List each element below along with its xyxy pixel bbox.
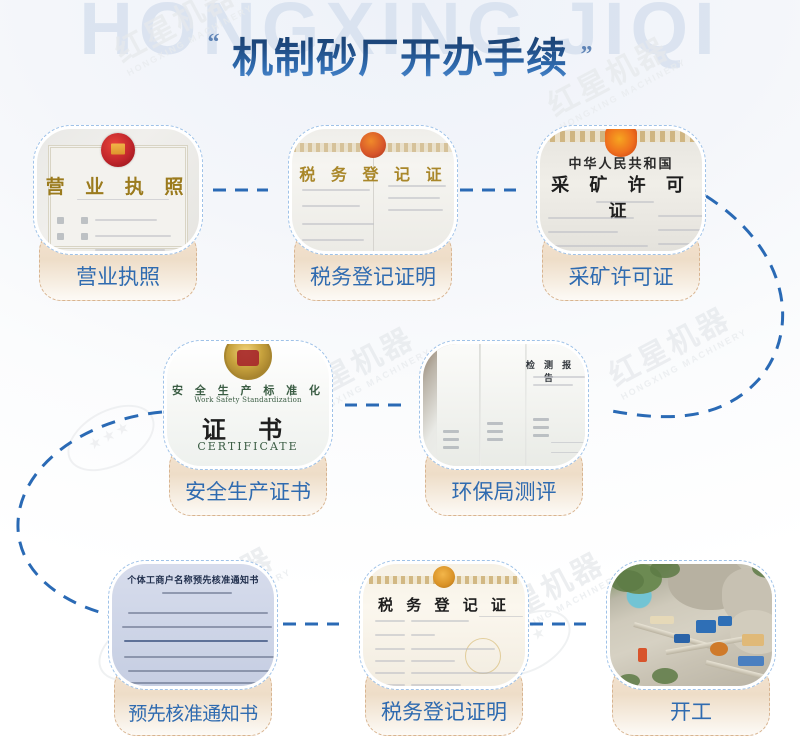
step-image-safety-certificate: 安 全 生 产 标 准 化 Work Safety Standardizatio… [163,340,333,470]
title-quote-left-icon: “ [208,30,220,57]
national-emblem-icon [433,566,455,588]
step-card-8[interactable]: 开工 [606,560,776,736]
step-card-6[interactable]: 个体工商户名称预先核准通知书 预先核准通知书 [108,560,278,736]
document-title: 检 测 报 告 [521,358,579,384]
page-title-text: 机制砂厂开办手续 [232,24,568,84]
document-title: 税 务 登 记 证 [292,161,454,185]
gold-seal-icon [224,344,272,380]
document-title-en: CERTIFICATE [167,440,329,453]
step-card-2[interactable]: 税 务 登 记 证 税务登记证明 [288,125,458,301]
step-image-pre-approval-notice: 个体工商户名称预先核准通知书 [108,560,278,690]
step-label-text: 安全生产证书 [185,476,311,506]
step-card-3[interactable]: 中华人民共和国 采 矿 许 可 证 采矿许可证 [536,125,706,301]
flowchart-page: HONGXING JIQI 红星机器 HONGXING MACHINERY 红星… [0,0,800,749]
document-artwork: 个体工商户名称预先核准通知书 [112,564,274,686]
step-label-text: 税务登记证明 [310,261,436,291]
document-artwork: 营 业 执 照 [37,129,199,251]
step-card-4[interactable]: 安 全 生 产 标 准 化 Work Safety Standardizatio… [163,340,333,516]
step-label-text: 预先核准通知书 [128,699,258,726]
title-quote-right-icon: ” [580,42,592,69]
document-artwork: 税 务 登 记 证 [363,564,525,686]
step-image-test-reports: 检 测 报 告 [419,340,589,470]
document-artwork: 安 全 生 产 标 准 化 Work Safety Standardizatio… [167,344,329,466]
step-image-tax-registration: 税 务 登 记 证 [288,125,458,255]
document-title: 税 务 登 记 证 [363,594,525,615]
page-title: “ 机制砂厂开办手续 ” [0,24,800,84]
national-emblem-icon [101,133,135,167]
quarry-photo-artwork [610,564,772,686]
document-artwork: 税 务 登 记 证 [292,129,454,251]
document-artwork: 检 测 报 告 [423,344,585,466]
step-label-text: 环保局测评 [452,476,557,506]
step-image-mining-permit: 中华人民共和国 采 矿 许 可 证 [536,125,706,255]
document-artwork: 中华人民共和国 采 矿 许 可 证 [540,129,702,251]
step-card-5[interactable]: 检 测 报 告 环保局测评 [419,340,589,516]
red-seal-icon [465,638,501,674]
document-subtitle: 中华人民共和国 [540,153,702,172]
step-card-1[interactable]: 营 业 执 照 营业执照 [33,125,203,301]
step-label-text: 营业执照 [76,261,160,291]
step-image-tax-registration-2: 税 务 登 记 证 [359,560,529,690]
step-label-text: 采矿许可证 [569,261,674,291]
step-image-business-license: 营 业 执 照 [33,125,203,255]
step-card-7[interactable]: 税 务 登 记 证 税务登记 [359,560,529,736]
document-title: 个体工商户名称预先核准通知书 [112,573,274,586]
national-emblem-icon [360,132,386,158]
step-label-text: 税务登记证明 [381,696,507,726]
document-title: 营 业 执 照 [37,172,199,199]
document-line-en: Work Safety Standardization [167,396,329,404]
step-label-text: 开工 [670,696,712,726]
step-image-quarry-plant [606,560,776,690]
